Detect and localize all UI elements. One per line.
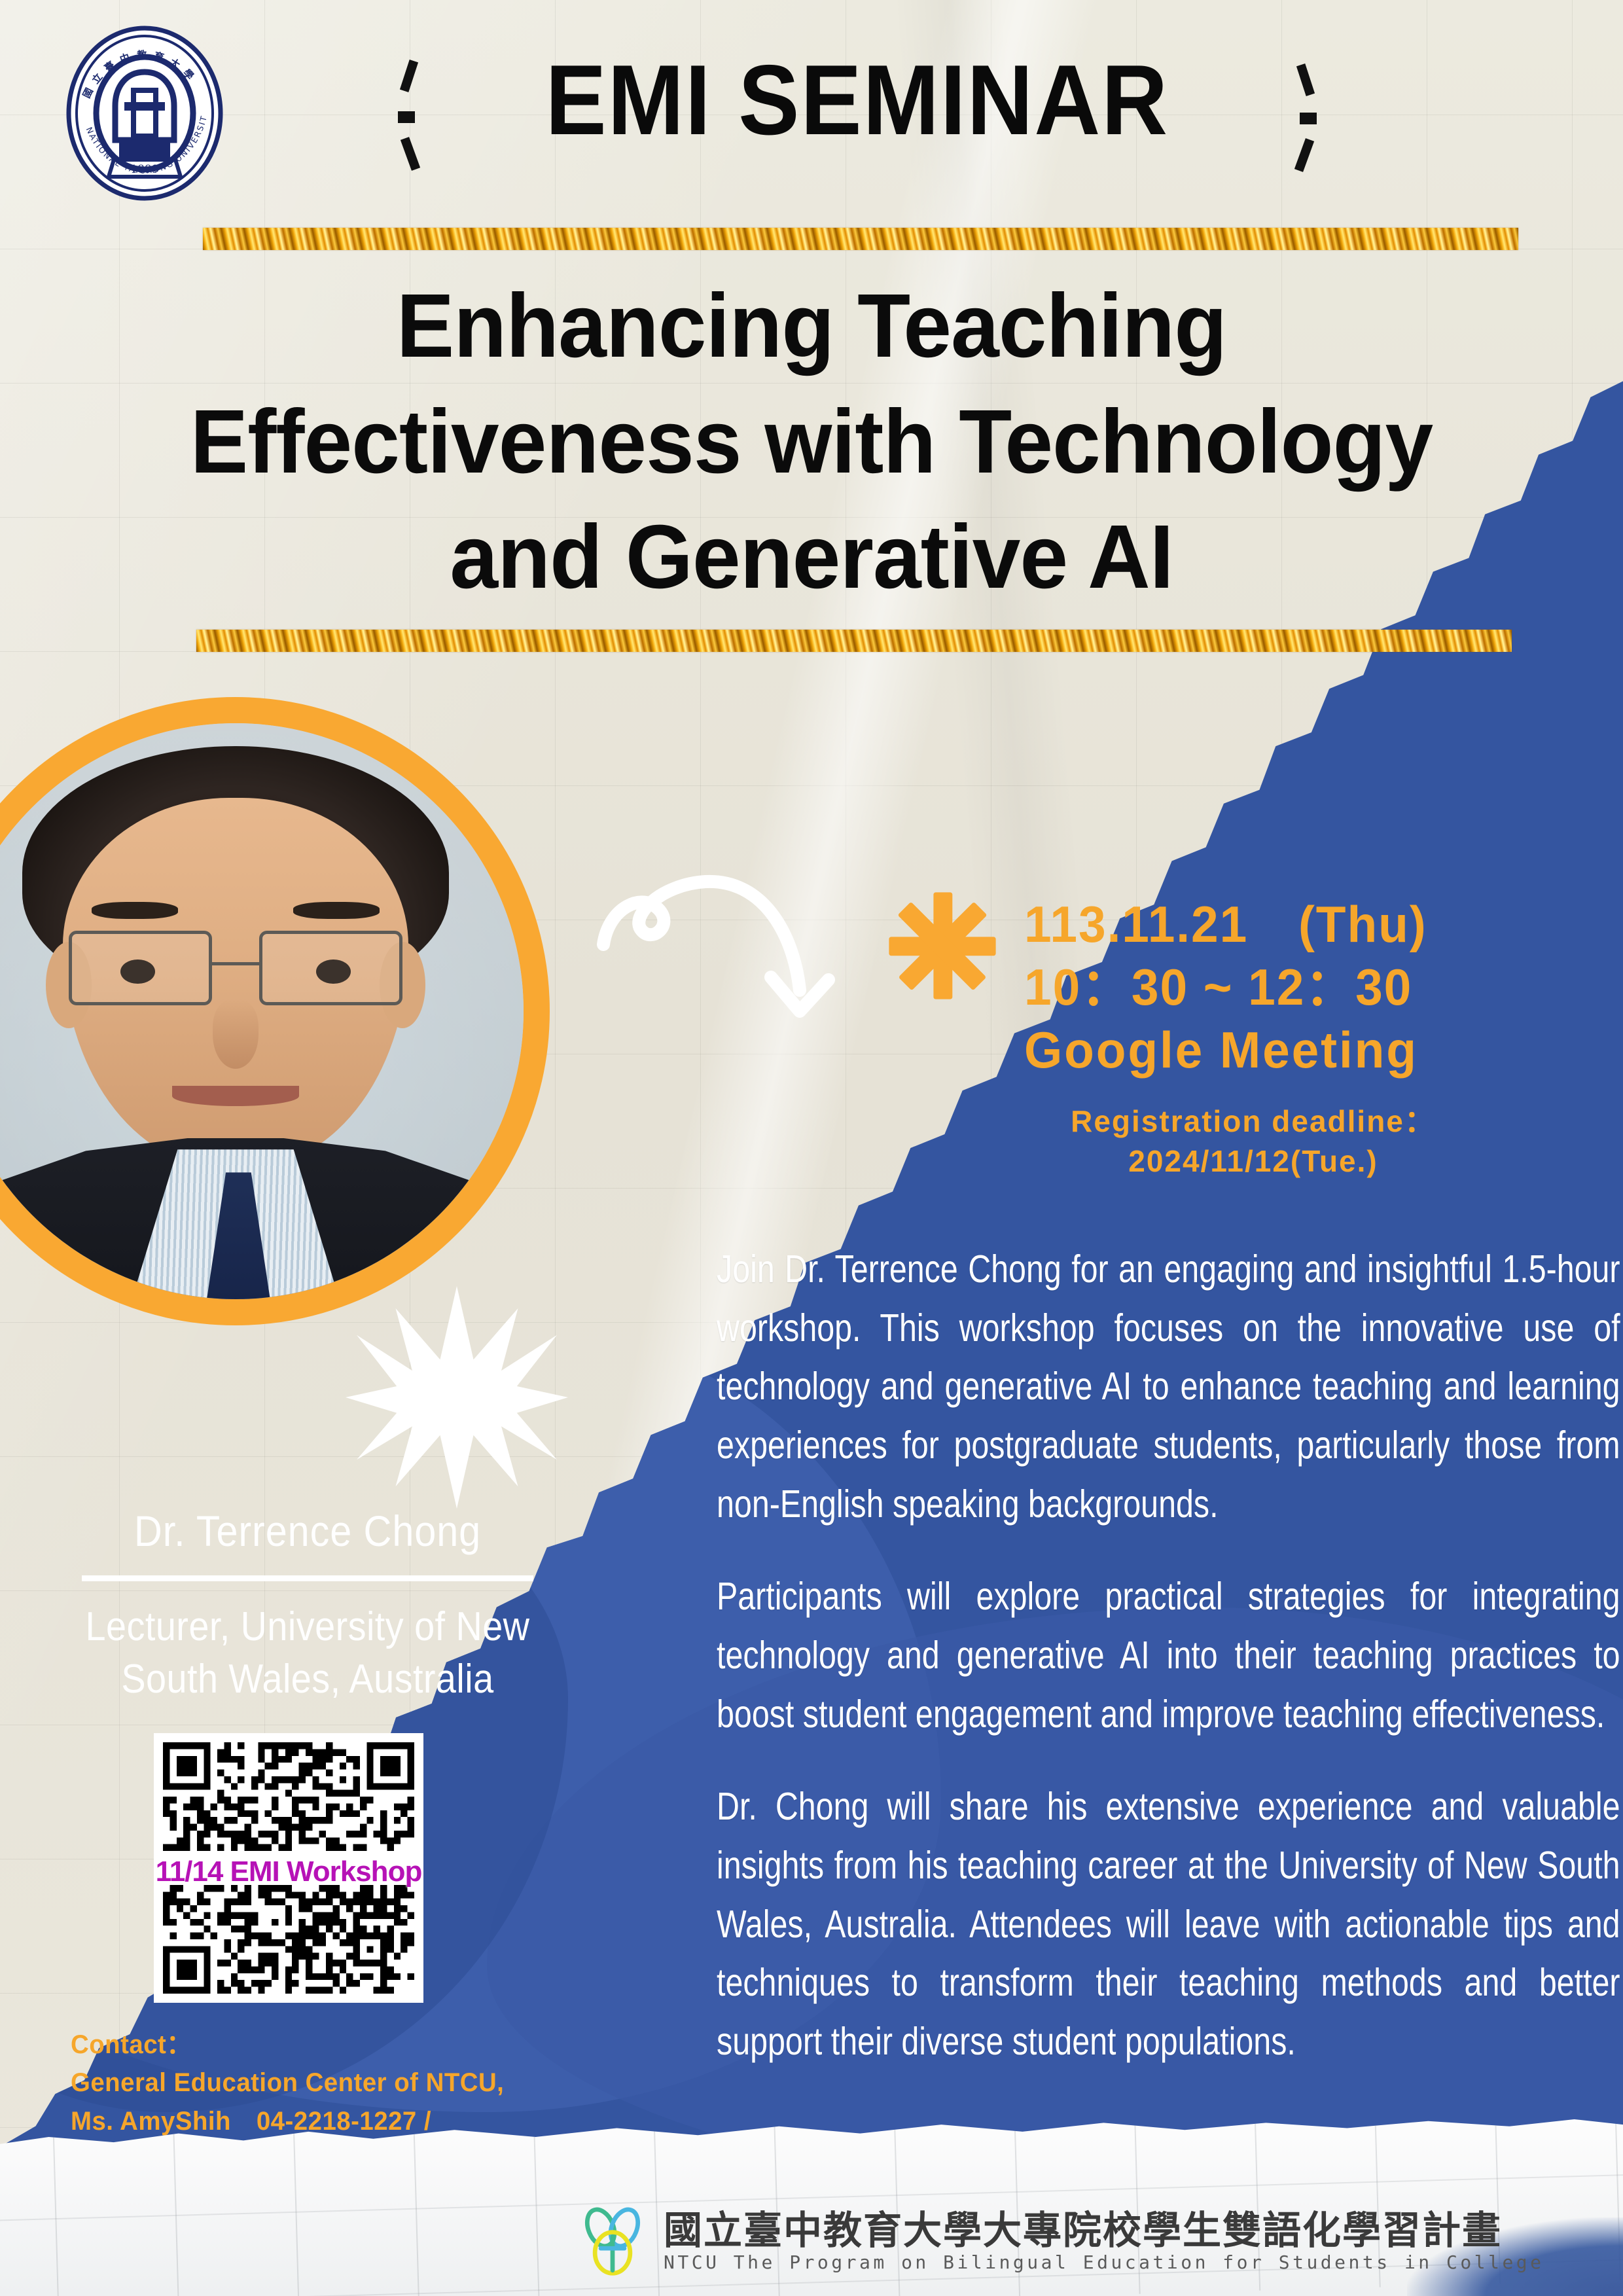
- registration-deadline-label: Registration deadline：: [1024, 1102, 1482, 1141]
- portrait-nose: [213, 999, 259, 1069]
- speaker-name: Dr. Terrence Chong: [43, 1505, 573, 1557]
- description-paragraph-3: Dr. Chong will share his extensive exper…: [717, 1778, 1620, 2071]
- speaker-divider: [82, 1575, 533, 1581]
- decorative-tick-icon: [400, 60, 418, 92]
- portrait-glasses-icon: [69, 931, 402, 1005]
- decorative-tick-icon: [398, 111, 415, 123]
- gold-glitter-divider-bottom: [196, 630, 1512, 652]
- footer-program-name-en: NTCU The Program on Bilingual Education …: [664, 2253, 1544, 2272]
- event-date: 113.11.21 (Thu): [1024, 893, 1590, 956]
- speaker-role-line-1: Lecturer, University of New: [43, 1601, 573, 1653]
- decorative-tick-icon: [1296, 63, 1315, 96]
- title-line-1: Enhancing Teaching: [158, 268, 1465, 384]
- title-line-3: and Generative AI: [158, 499, 1465, 615]
- seminar-heading-block: EMI SEMINAR: [393, 38, 1322, 162]
- event-details-block: 113.11.21 (Thu) 10：30 ~ 12：30 Google Mee…: [1024, 893, 1613, 1181]
- event-time: 10：30 ~ 12：30: [1024, 956, 1590, 1019]
- contact-label: Contact：: [71, 2026, 636, 2064]
- event-platform: Google Meeting: [1024, 1019, 1590, 1082]
- registration-deadline-value: 2024/11/12(Tue.): [1024, 1141, 1482, 1181]
- registration-deadline: Registration deadline： 2024/11/12(Tue.): [1024, 1102, 1482, 1181]
- title-line-2: Effectiveness with Technology: [158, 384, 1465, 500]
- contact-person-phone: Ms. AmyShih 04-2218-1227 /: [71, 2102, 636, 2140]
- gold-glitter-divider-top: [203, 228, 1518, 250]
- qr-code-label: 11/14 EMI Workshop: [154, 1856, 423, 1888]
- description-paragraph-2: Participants will explore practical stra…: [717, 1568, 1620, 1744]
- butterfly-logo-icon: [576, 2204, 649, 2278]
- portrait-photo: [0, 723, 524, 1299]
- university-seal-logo: 1899 國 立 臺 中 教 育 大 學 NATIONAL TAICHUNG U…: [56, 25, 233, 202]
- asterisk-icon: [887, 887, 998, 1005]
- decorative-tick-icon: [1300, 113, 1317, 124]
- description-paragraph-1: Join Dr. Terrence Chong for an engaging …: [717, 1240, 1620, 1534]
- speaker-block: Dr. Terrence Chong Lecturer, University …: [13, 1505, 602, 1705]
- footer-program-name-zh: 國立臺中教育大學大專院校學生雙語化學習計畫: [664, 2211, 1544, 2250]
- description-block: Join Dr. Terrence Chong for an engaging …: [717, 1240, 1620, 2072]
- speaker-role-line-2: South Wales, Australia: [43, 1653, 573, 1705]
- portrait-eyebrow: [293, 902, 380, 919]
- portrait-eyebrow: [92, 902, 178, 919]
- program-logo-lockup: 國立臺中教育大學大專院校學生雙語化學習計畫 NTCU The Program o…: [576, 2204, 1544, 2278]
- poster-root: 1899 國 立 臺 中 教 育 大 學 NATIONAL TAICHUNG U…: [0, 0, 1623, 2296]
- page-title: Enhancing Teaching Effectiveness with Te…: [131, 268, 1492, 615]
- contact-organization: General Education Center of NTCU,: [71, 2064, 636, 2102]
- starburst-icon: [346, 1286, 568, 1509]
- speaker-portrait-avatar: [0, 697, 550, 1325]
- seminar-label: EMI SEMINAR: [546, 50, 1169, 150]
- portrait-mouth: [172, 1086, 299, 1106]
- curved-arrow-icon: [589, 867, 864, 1057]
